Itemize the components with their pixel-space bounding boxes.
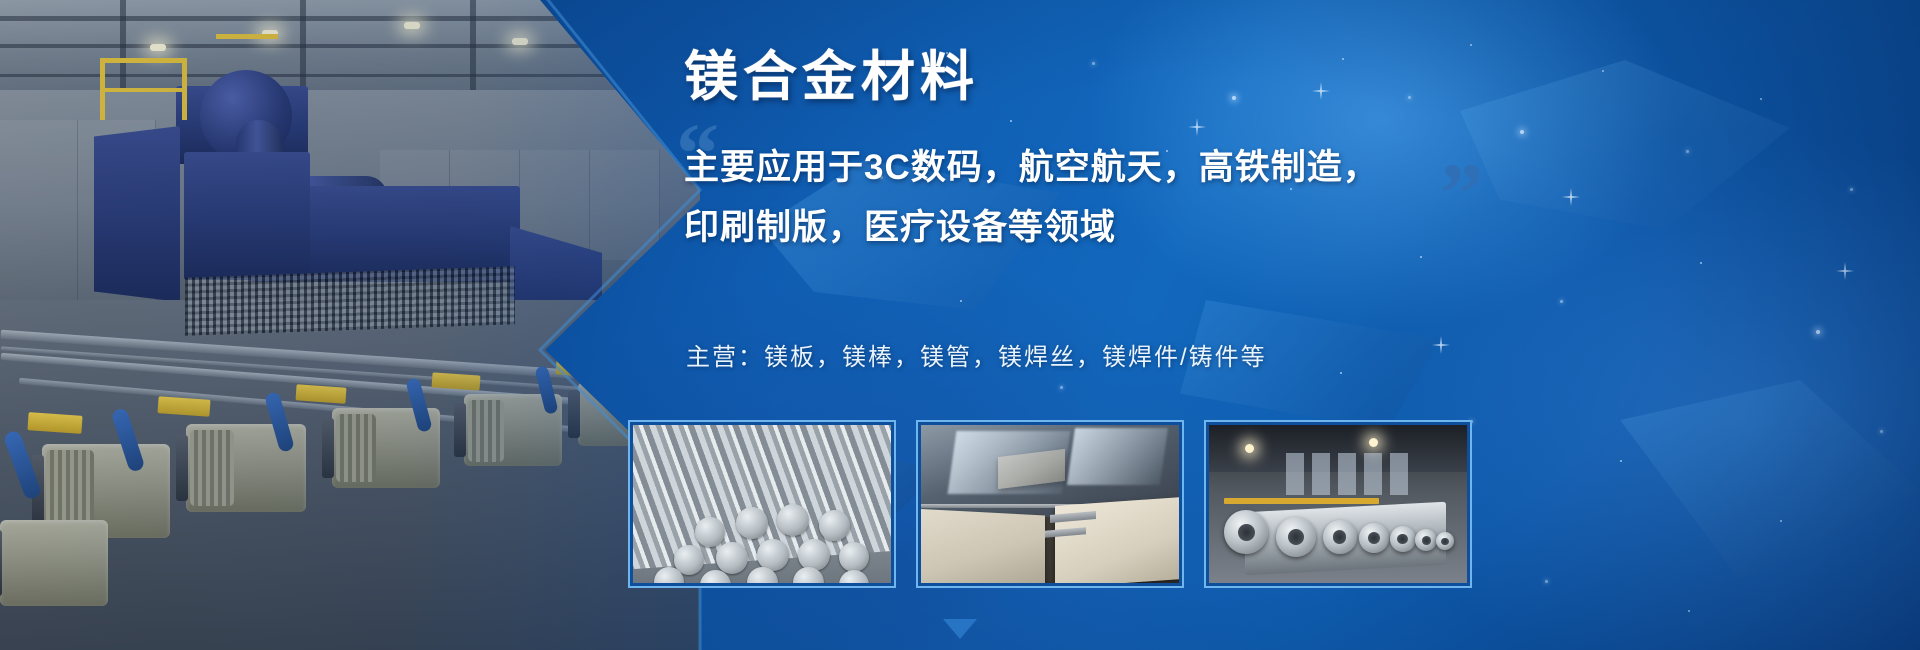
page-title: 镁合金材料	[684, 50, 979, 104]
promo-banner: 镁合金材料 “ ” 主要应用于3C数码，航空航天，高铁制造， 印刷制版，医疗设备…	[0, 0, 1920, 650]
main-products-text: 主营：镁板，镁棒，镁管，镁焊丝，镁焊件/铸件等	[686, 337, 1267, 372]
chevron-down-icon	[943, 619, 977, 639]
product-thumbnail-row	[628, 420, 1628, 600]
thumbnail-magnesium-coils[interactable]	[1204, 420, 1472, 588]
subtitle: 主要应用于3C数码，航空航天，高铁制造， 印刷制版，医疗设备等领域	[684, 138, 1444, 258]
magnesium-bars-photo	[633, 425, 891, 583]
quote-close-mark: ”	[1440, 150, 1483, 236]
subtitle-line-1: 主要应用于3C数码，航空航天，高铁制造，	[684, 138, 1444, 198]
subtitle-line-2: 印刷制版，医疗设备等领域	[684, 198, 1444, 258]
banner-content: 镁合金材料 “ ” 主要应用于3C数码，航空航天，高铁制造， 印刷制版，医疗设备…	[676, 0, 1916, 650]
magnesium-coils-photo	[1209, 425, 1467, 583]
magnesium-plates-photo	[921, 425, 1179, 583]
thumbnail-magnesium-bars[interactable]	[628, 420, 896, 588]
scroll-down-indicator[interactable]	[943, 619, 977, 644]
thumbnail-magnesium-plates[interactable]	[916, 420, 1184, 588]
